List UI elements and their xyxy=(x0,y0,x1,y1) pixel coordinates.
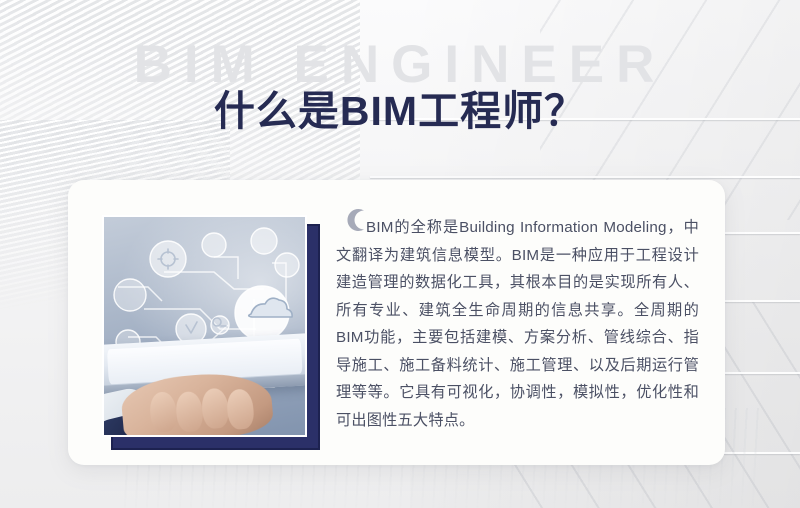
arc-ring-icon xyxy=(343,206,371,234)
photo-container xyxy=(102,215,307,437)
page-stage: BIM ENGINEER 什么是BIM工程师？ xyxy=(0,0,800,508)
photo-image xyxy=(102,215,307,437)
body-paragraph: BIM的全称是Building Information Modeling，中文翻… xyxy=(336,214,699,434)
page-title: 什么是BIM工程师？ xyxy=(0,77,800,137)
body-text-block: BIM的全称是Building Information Modeling，中文翻… xyxy=(336,214,699,434)
content-card: BIM的全称是Building Information Modeling，中文翻… xyxy=(68,180,725,465)
